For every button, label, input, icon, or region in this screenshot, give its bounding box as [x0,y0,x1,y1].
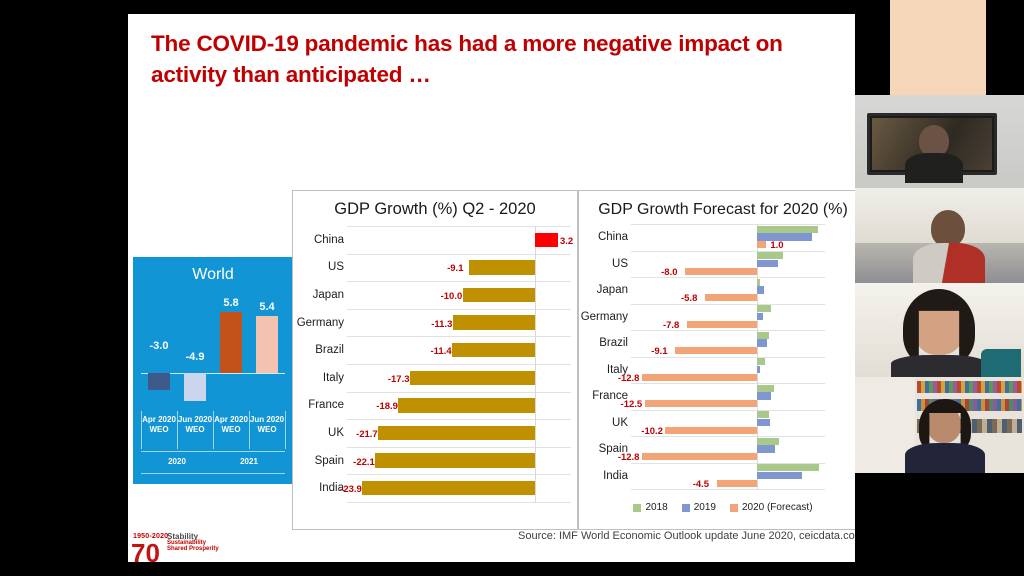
data-bar [469,260,535,274]
data-bar [685,268,757,275]
data-bar [398,398,535,412]
bar-value-label: -10.2 [641,426,663,437]
world-year-group-label: 2020 [142,457,212,466]
world-tick-period: Jun 2020 [247,415,287,425]
category-label: India [579,463,631,490]
participant-torso-3 [913,243,985,283]
data-bar [757,464,818,471]
world-bar-value-label: -3.0 [139,340,179,352]
data-bar [757,392,771,399]
bar-value-label: 3.2 [560,236,573,247]
gridline-horizontal [631,489,825,490]
data-bar [362,481,535,495]
video-participant-rail [855,0,1024,576]
world-tick-source: WEO [211,425,251,435]
world-axis-tick: Apr 2020WEO [139,415,179,435]
data-bar [375,453,535,467]
source-note: Source: IMF World Economic Outlook updat… [518,530,868,542]
category-label: China [579,224,631,251]
bar-value-label: -7.8 [663,320,679,331]
bar-value-label: -21.7 [356,429,378,440]
category-label: US [579,251,631,278]
participant-tile-6[interactable] [855,473,1024,576]
legend-label: 2018 [645,502,667,513]
bar-value-label: -10.0 [441,291,463,302]
data-bar [378,426,535,440]
data-bar [757,241,766,248]
participant-tile-4[interactable] [855,283,1024,377]
world-axis-divider [177,411,178,449]
category-label: France [293,392,347,420]
legend-label: 2020 (Forecast) [742,502,813,513]
data-bar [463,288,535,302]
data-bar [757,419,770,426]
chart-row: France-12.5 [579,383,867,410]
data-bar [757,332,769,339]
world-bar-value-label: -4.9 [175,351,215,363]
data-bar [645,400,758,407]
data-bar [757,279,760,286]
data-bar [757,233,812,240]
category-label: UK [579,410,631,437]
legend-swatch-icon [682,504,690,512]
data-bar [642,374,757,381]
data-bar [757,438,779,445]
gdp-growth-q2-chart-title: GDP Growth (%) Q2 - 2020 [293,191,577,220]
slide-title: The COVID-19 pandemic has had a more neg… [151,28,831,90]
chart-row: Italy-17.3 [293,364,577,392]
bar-value-label: -9.1 [651,346,667,357]
chart-row: France-18.9 [293,392,577,420]
world-chart-plot: -3.0-4.95.85.4 [133,289,293,409]
bar-value-label: -5.8 [681,293,697,304]
gridline-horizontal [347,502,571,503]
data-bar [452,343,534,357]
world-tick-source: WEO [139,425,179,435]
legend-item[interactable]: 2019 [682,502,716,513]
chart-row: Italy-12.8 [579,357,867,384]
chart-row: Germany-11.3 [293,309,577,337]
data-bar [757,472,801,479]
bar-value-label: -8.0 [661,267,677,278]
data-bar [642,453,757,460]
category-label: Italy [293,364,347,392]
category-label: Japan [293,281,347,309]
legend-swatch-icon [730,504,738,512]
participant-tile-1[interactable] [855,0,1024,95]
data-bar [757,358,764,365]
participant-tile-2[interactable] [855,95,1024,188]
data-bar [757,339,767,346]
bar-value-label: -17.3 [388,374,410,385]
legend-item[interactable]: 2018 [633,502,667,513]
anniversary-years: 1950-2020 [133,533,168,540]
data-bar [757,305,771,312]
world-axis-divider [285,411,286,449]
chair-backrest [981,349,1021,377]
gdp-growth-q2-chart-panel: GDP Growth (%) Q2 - 2020 China3.2US-9.1J… [292,190,578,530]
data-bar [757,411,769,418]
data-bar [687,321,757,328]
world-bar [256,316,278,373]
category-label: Spain [293,447,347,475]
world-chart-axis: Apr 2020WEOJun 2020WEOApr 2020WEOJun 202… [133,411,293,489]
chart-row: US-9.1 [293,254,577,282]
world-tick-period: Jun 2020 [175,415,215,425]
screen: The COVID-19 pandemic has had a more neg… [0,0,1024,576]
bar-value-label: -22.1 [353,457,375,468]
world-axis-divider [213,411,214,449]
world-axis-separator [141,451,285,452]
bar-value-label: -9.1 [447,263,463,274]
category-label: US [293,254,347,282]
world-bar [220,312,242,373]
chart-row: Spain-22.1 [293,447,577,475]
chart-row: US-8.0 [579,251,867,278]
bar-value-label: -23.9 [340,484,362,495]
bar-value-label: -4.5 [693,479,709,490]
bar-value-label: -18.9 [376,401,398,412]
chart-row: Japan-10.0 [293,281,577,309]
chart-row: India-4.5 [579,463,867,490]
data-bar [757,252,783,259]
data-bar [757,385,773,392]
chart-row: China1.0 [579,224,867,251]
anniversary-line-3: Shared Prosperity [167,546,219,552]
legend-item[interactable]: 2020 (Forecast) [730,502,813,513]
anniversary-logo: 70 1950-2020 Stability Sustainability Sh… [131,532,251,562]
category-label: Brazil [579,330,631,357]
chart-row: Spain-12.8 [579,436,867,463]
data-bar [757,260,778,267]
bar-value-label: -12.8 [618,373,640,384]
chart-row: China3.2 [293,226,577,254]
world-axis-separator [141,473,285,474]
bar-value-label: -11.4 [430,346,451,357]
world-chart-title: World [133,257,293,284]
presentation-slide: The COVID-19 pandemic has had a more neg… [128,14,868,562]
legend-label: 2019 [694,502,716,513]
gdp-forecast-plot: China1.0US-8.0Japan-5.8Germany-7.8Brazil… [579,220,867,503]
data-bar [757,445,775,452]
world-tick-period: Apr 2020 [211,415,251,425]
participant-tile-3[interactable] [855,188,1024,283]
category-label: Brazil [293,336,347,364]
world-bar-value-label: 5.8 [211,297,251,309]
chart-row: UK-10.2 [579,410,867,437]
participant-video-1 [890,0,986,95]
category-label: Japan [579,277,631,304]
data-bar [757,286,763,293]
category-label: India [293,474,347,502]
gdp-growth-q2-plot: China3.2US-9.1Japan-10.0Germany-11.3Braz… [293,220,577,518]
legend-swatch-icon [633,504,641,512]
chart-row: Brazil-9.1 [579,330,867,357]
bar-value-label: -11.3 [431,319,452,330]
participant-tile-5[interactable] [855,377,1024,473]
world-tick-period: Apr 2020 [139,415,179,425]
data-bar [757,366,760,373]
participant-torso-2 [905,153,963,183]
book-row-1 [917,381,1022,393]
category-label: Germany [293,309,347,337]
world-bar [148,373,170,390]
world-chart-panel: World -3.0-4.95.85.4 Apr 2020WEOJun 2020… [133,257,293,484]
data-bar [757,226,817,233]
participant-torso-4 [891,355,987,377]
bar-value-label: 1.0 [770,240,783,251]
world-axis-divider [141,411,142,449]
chart-row: Germany-7.8 [579,304,867,331]
gdp-forecast-chart-title: GDP Growth Forecast for 2020 (%) [579,191,867,220]
chart-row: India-23.9 [293,474,577,502]
data-bar [535,233,558,247]
category-label: Germany [579,304,631,331]
world-year-group-label: 2021 [214,457,284,466]
world-bar [184,373,206,401]
data-bar [453,315,535,329]
anniversary-number: 70 [131,538,160,562]
world-axis-divider [249,411,250,449]
participant-head-3 [931,210,965,247]
world-axis-tick: Apr 2020WEO [211,415,251,435]
data-bar [665,427,757,434]
bar-value-label: -12.5 [621,399,643,410]
gdp-forecast-legend: 201820192020 (Forecast) [579,502,867,513]
data-bar [410,371,535,385]
bar-value-label: -12.8 [618,452,640,463]
data-bar [675,347,757,354]
world-bar-value-label: 5.4 [247,301,287,313]
category-label: UK [293,419,347,447]
world-axis-tick: Jun 2020WEO [247,415,287,435]
participant-torso-5 [905,443,985,473]
chart-row: Japan-5.8 [579,277,867,304]
world-axis-tick: Jun 2020WEO [175,415,215,435]
gdp-forecast-chart-panel: GDP Growth Forecast for 2020 (%) China1.… [578,190,868,530]
world-tick-source: WEO [175,425,215,435]
data-bar [717,480,758,487]
chart-row: UK-21.7 [293,419,577,447]
category-label: China [293,226,347,254]
chart-row: Brazil-11.4 [293,336,577,364]
data-bar [705,294,757,301]
world-tick-source: WEO [247,425,287,435]
data-bar [757,313,762,320]
